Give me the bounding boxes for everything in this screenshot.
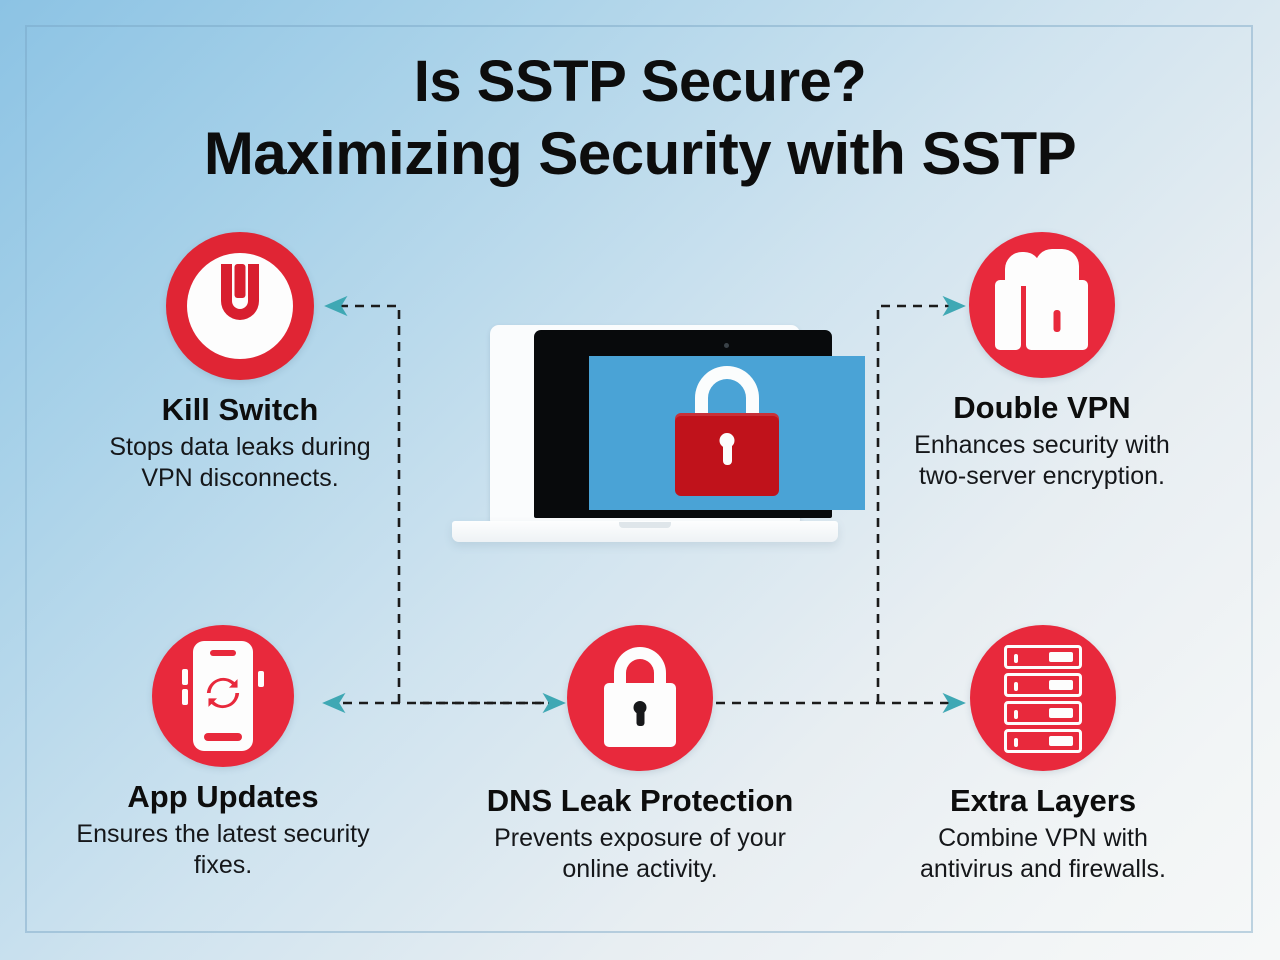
screen-padlock-keyhole (720, 433, 735, 448)
power-switch-icon (166, 232, 314, 380)
feature-description: Prevents exposure of your online activit… (440, 823, 840, 885)
laptop-notch (619, 522, 671, 528)
laptop-lid (490, 325, 800, 523)
screen-padlock-body (675, 413, 779, 496)
feature-double-vpn[interactable]: Double VPN Enhances security with two-se… (872, 232, 1212, 492)
feature-app-updates[interactable]: App Updates Ensures the latest security … (68, 625, 378, 881)
feature-heading: App Updates (68, 780, 378, 815)
phone-refresh-icon (152, 625, 294, 767)
feature-heading: Extra Layers (888, 784, 1198, 819)
padlock-icon (567, 625, 713, 771)
feature-heading: Kill Switch (70, 393, 410, 428)
double-padlock-icon (969, 232, 1115, 378)
refresh-arrows-icon (204, 674, 242, 712)
laptop-illustration (452, 325, 838, 555)
feature-description: Combine VPN with antivirus and firewalls… (888, 823, 1198, 885)
feature-heading: Double VPN (872, 391, 1212, 426)
feature-kill-switch[interactable]: Kill Switch Stops data leaks during VPN … (70, 232, 410, 494)
feature-description: Ensures the latest security fixes. (68, 819, 378, 881)
feature-dns-leak-protection[interactable]: DNS Leak Protection Prevents exposure of… (440, 625, 840, 885)
webcam-icon (724, 343, 729, 348)
laptop-screen (589, 356, 865, 510)
laptop-bezel (534, 330, 832, 518)
feature-extra-layers[interactable]: Extra Layers Combine VPN with antivirus … (888, 625, 1198, 885)
feature-description: Stops data leaks during VPN disconnects. (70, 432, 410, 494)
server-stack-icon (970, 625, 1116, 771)
feature-heading: DNS Leak Protection (440, 784, 840, 819)
feature-description: Enhances security with two-server encryp… (872, 430, 1212, 492)
